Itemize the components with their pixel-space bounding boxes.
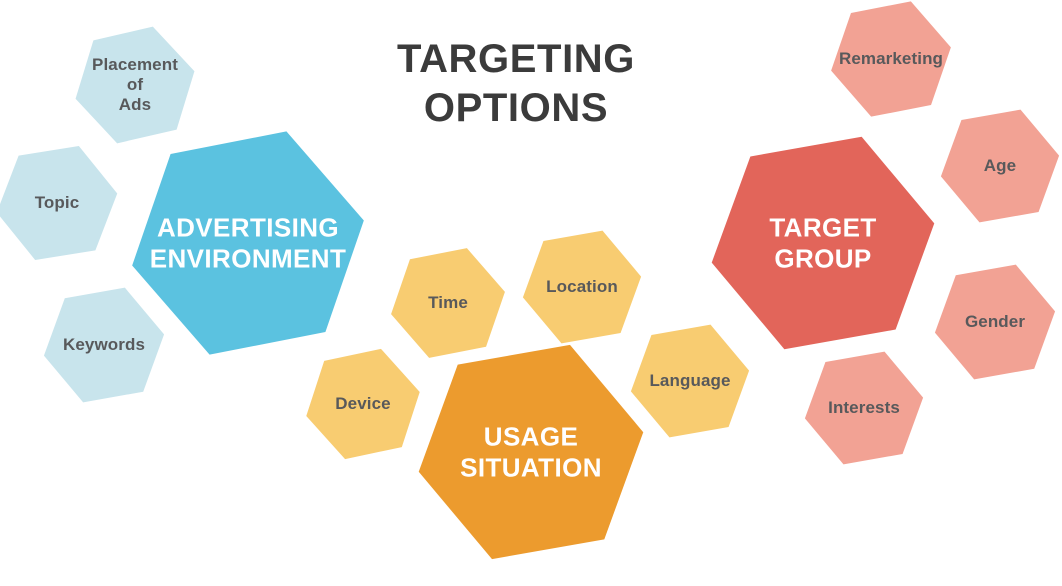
page-title: TARGETING OPTIONS	[397, 35, 635, 133]
hexagon-advertising-environment-placement-of-ads[interactable]	[76, 27, 195, 144]
hexagon-usage-situation-location[interactable]	[523, 231, 641, 344]
hexagon-target-group-age[interactable]	[941, 110, 1059, 223]
hexagon-advertising-environment-keywords[interactable]	[44, 288, 164, 403]
hexagon-target-group-main[interactable]	[712, 137, 935, 349]
hexagon-target-group-remarketing[interactable]	[831, 1, 951, 116]
hexagon-target-group-gender[interactable]	[935, 265, 1055, 380]
hexagon-advertising-environment-topic[interactable]	[0, 146, 117, 260]
hexagon-advertising-environment-main[interactable]	[132, 131, 364, 354]
diagram-canvas: TARGETING OPTIONS Placement of AdsTopicK…	[0, 0, 1062, 586]
hexagon-usage-situation-device[interactable]	[306, 349, 419, 459]
hexagon-usage-situation-language[interactable]	[631, 325, 749, 438]
hexagon-usage-situation-main[interactable]	[419, 345, 644, 559]
hexagon-usage-situation-time[interactable]	[391, 248, 505, 358]
hexagon-target-group-interests[interactable]	[805, 352, 923, 465]
